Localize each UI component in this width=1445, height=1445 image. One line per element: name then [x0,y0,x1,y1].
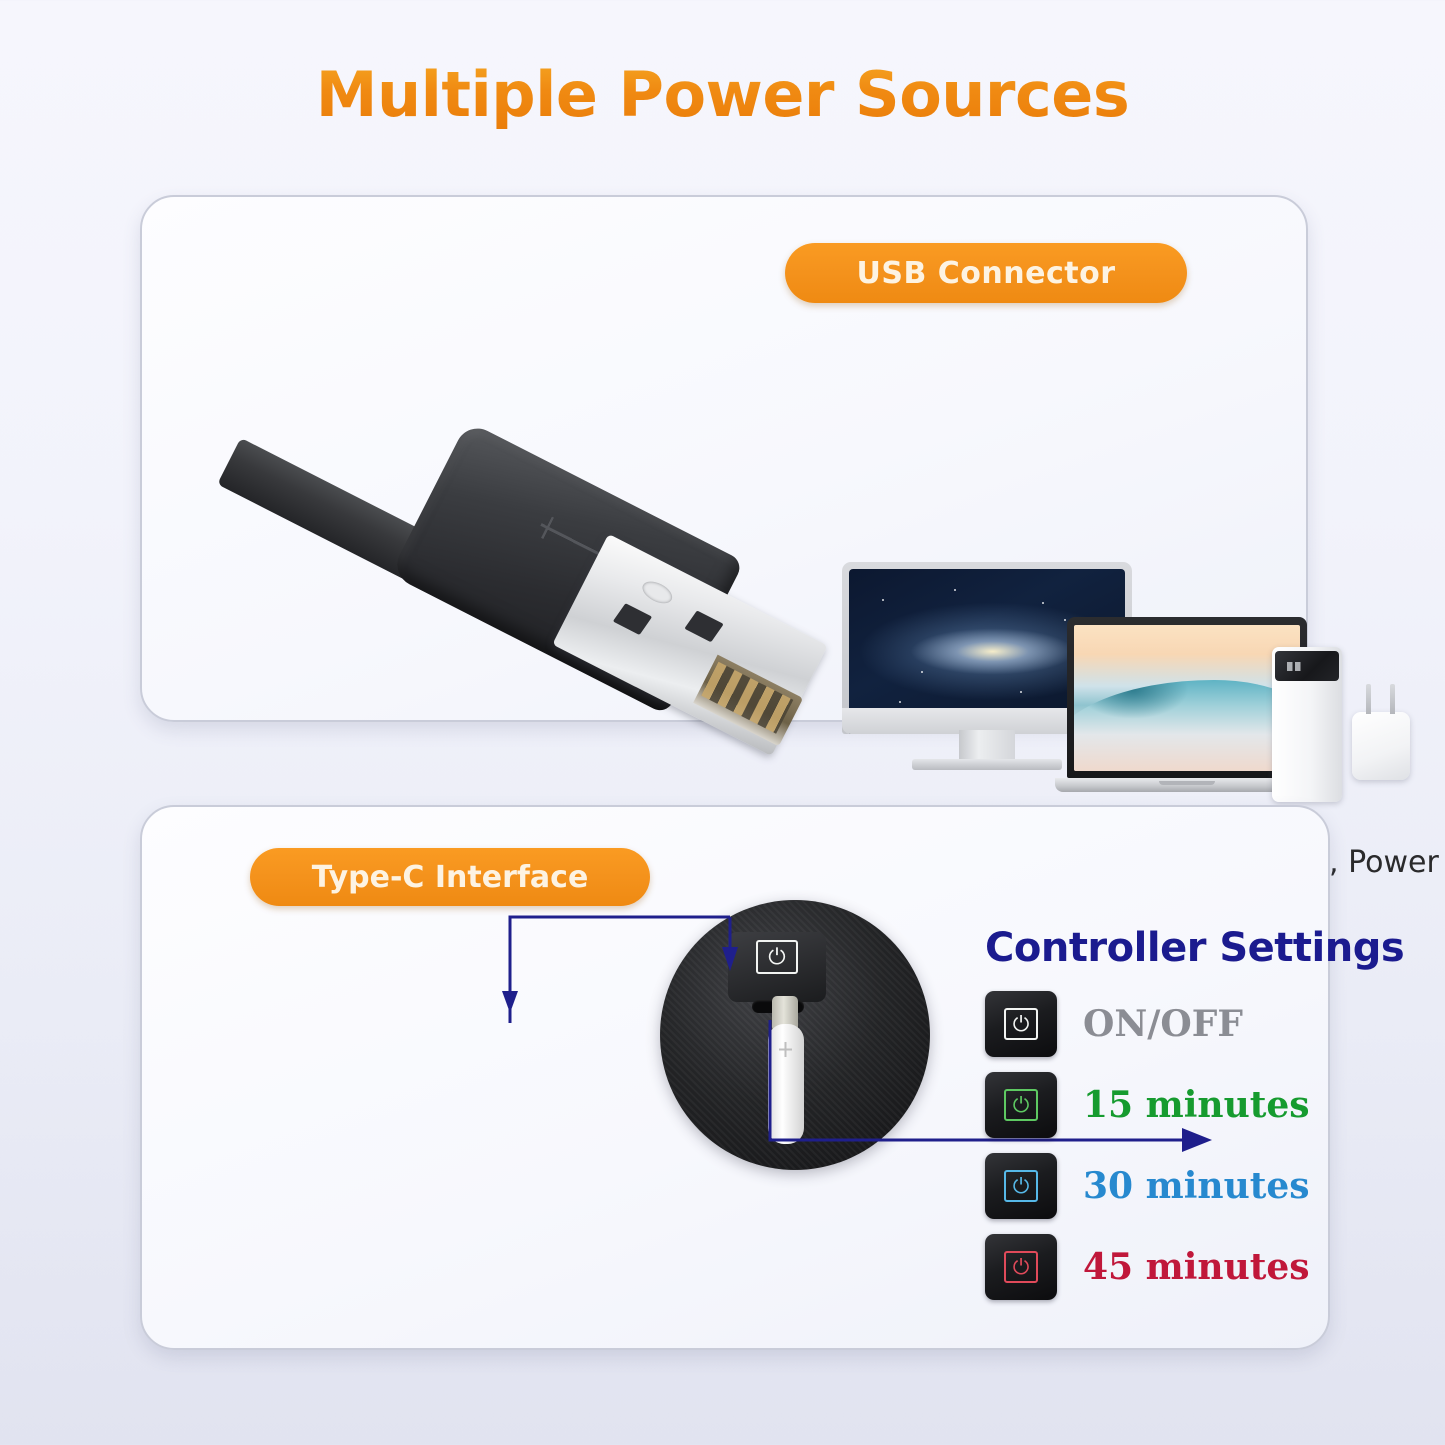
power-icon: ⏻ [1004,1251,1038,1283]
usb-plug-notch-1 [613,603,652,635]
power-icon: ⏻ [756,940,798,974]
type-c-interface-badge: Type-C Interface [250,848,650,906]
page-title: Multiple Power Sources [0,58,1445,131]
power-bank [1272,647,1342,802]
setting-button-15-minutes[interactable]: ⏻ [985,1072,1057,1138]
usb-connector-badge: USB Connector [785,243,1187,303]
type-c-port-closeup-inset: ⏻ [660,900,930,1170]
power-bank-display [1275,651,1339,681]
setting-button-45-minutes[interactable]: ⏻ [985,1234,1057,1300]
setting-row-45-minutes[interactable]: ⏻ 45 minutes [985,1230,1335,1304]
laptop [1067,617,1307,792]
power-icon: ⏻ [1004,1008,1038,1040]
usb-plug-notch-2 [684,610,723,642]
type-c-cable [768,1024,804,1144]
setting-label-45-minutes: 45 minutes [1083,1246,1310,1288]
setting-label-30-minutes: 30 minutes [1083,1165,1310,1207]
controller-settings-panel: Controller Settings ⏻ ON/OFF ⏻ 15 minute… [985,925,1335,1315]
setting-row-30-minutes[interactable]: ⏻ 30 minutes [985,1149,1335,1223]
usb-plug-hole [639,577,676,608]
power-icon: ⏻ [1004,1170,1038,1202]
compatible-devices-illustration [842,562,1407,817]
closeup-power-button[interactable]: ⏻ [728,932,826,1002]
charger-prong-right [1390,684,1395,714]
setting-row-onoff[interactable]: ⏻ ON/OFF [985,987,1335,1061]
setting-label-onoff: ON/OFF [1083,1003,1243,1045]
controller-settings-heading: Controller Settings [985,925,1335,971]
usb-a-connector-illustration [237,397,777,797]
laptop-screen [1074,625,1300,771]
usb-contacts [693,655,803,747]
laptop-wallpaper [1074,680,1300,771]
setting-button-30-minutes[interactable]: ⏻ [985,1153,1057,1219]
monitor-stand-base [912,759,1062,770]
setting-button-onoff[interactable]: ⏻ [985,991,1057,1057]
power-icon: ⏻ [1004,1089,1038,1121]
usb-wall-charger [1352,712,1410,780]
monitor-stand-neck [959,730,1015,760]
setting-row-15-minutes[interactable]: ⏻ 15 minutes [985,1068,1335,1142]
charger-prong-left [1366,684,1371,714]
laptop-lid [1067,617,1307,778]
setting-label-15-minutes: 15 minutes [1083,1084,1310,1126]
